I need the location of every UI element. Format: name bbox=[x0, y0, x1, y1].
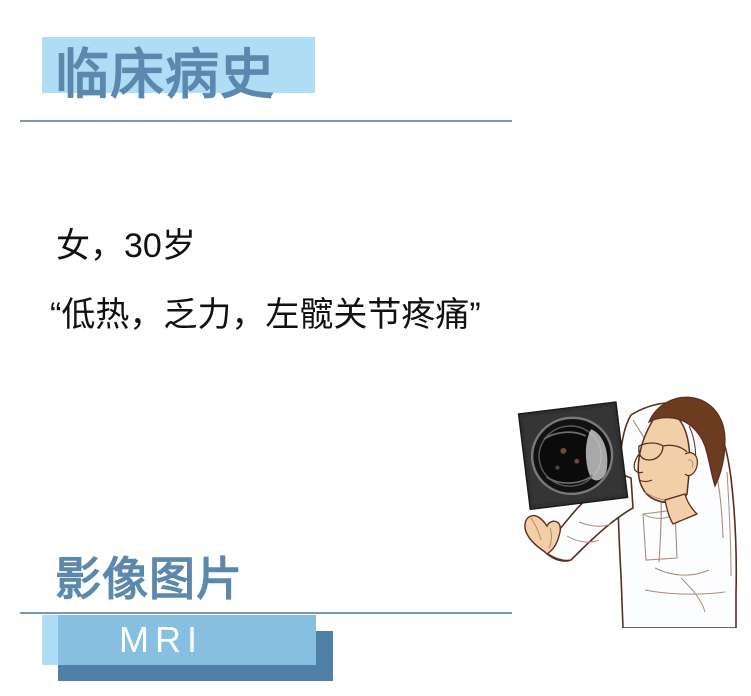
patient-demographics-line: 女，30岁 bbox=[56, 225, 196, 267]
mri-film bbox=[519, 402, 628, 509]
slide-canvas: 临床病史 女，30岁 “低热，乏力，左髋关节疼痛” bbox=[0, 0, 751, 696]
imaging-divider-rule bbox=[20, 612, 512, 614]
section-imaging-heading: 影像图片 bbox=[55, 552, 243, 606]
patient-symptoms-quote: “低热，乏力，左髋关节疼痛” bbox=[50, 294, 481, 336]
mri-chip: MRI bbox=[58, 615, 316, 665]
mri-chip-label: MRI bbox=[115, 620, 203, 660]
heading-divider-rule bbox=[20, 120, 512, 122]
section-clinical-history: 临床病史 bbox=[0, 0, 751, 135]
section-clinical-heading: 临床病史 bbox=[55, 44, 275, 106]
section-imaging: 影像图片 MRI bbox=[0, 545, 751, 696]
